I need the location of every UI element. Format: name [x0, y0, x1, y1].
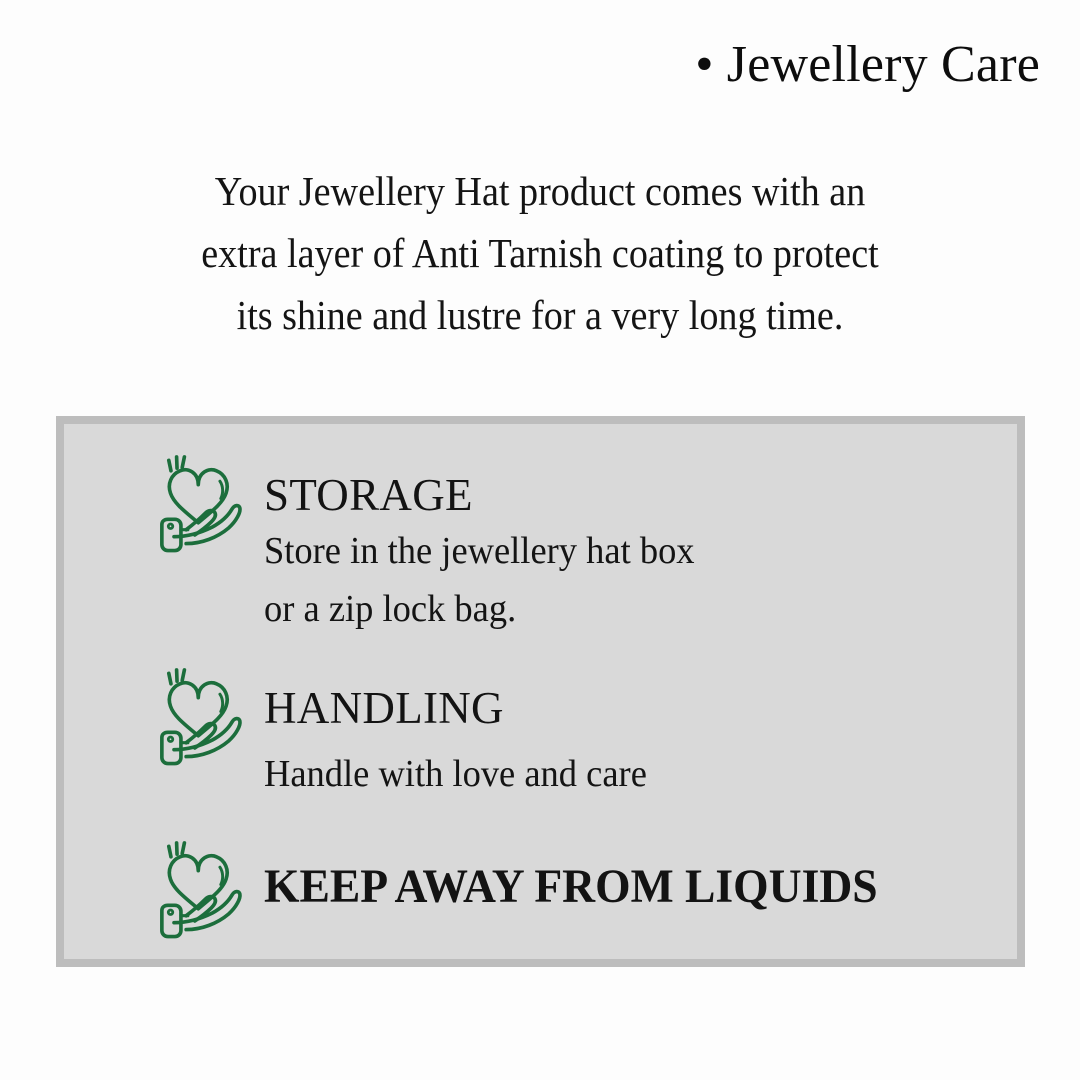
care-body-line-1: Store in the jewellery hat box	[264, 522, 695, 580]
care-heading-storage: STORAGE	[264, 470, 713, 520]
hand-holding-heart-icon	[148, 450, 252, 554]
care-item-handling: HANDLING Handle with love and care	[148, 659, 663, 803]
care-instructions-list: STORAGE Store in the jewellery hat box o…	[64, 424, 1017, 959]
intro-line-1: Your Jewellery Hat product comes with an	[94, 160, 987, 222]
care-item-storage: STORAGE Store in the jewellery hat box o…	[148, 450, 713, 638]
care-body-line-2: or a zip lock bag.	[264, 580, 695, 638]
care-instructions-panel: STORAGE Store in the jewellery hat box o…	[56, 416, 1025, 967]
care-item-text: STORAGE Store in the jewellery hat box o…	[264, 450, 713, 638]
hand-holding-heart-icon	[148, 836, 252, 940]
care-item-text: KEEP AWAY FROM LIQUIDS	[264, 834, 910, 912]
page-title: • Jewellery Care	[695, 34, 1040, 96]
intro-paragraph: Your Jewellery Hat product comes with an…	[94, 160, 987, 346]
intro-line-3: its shine and lustre for a very long tim…	[94, 284, 987, 346]
care-heading-handling: HANDLING	[264, 683, 663, 733]
care-item-keep-away-from-liquids: KEEP AWAY FROM LIQUIDS	[148, 834, 910, 940]
care-heading-keep-away-from-liquids: KEEP AWAY FROM LIQUIDS	[264, 862, 878, 912]
care-item-text: HANDLING Handle with love and care	[264, 659, 663, 803]
hand-holding-heart-icon	[148, 663, 252, 767]
intro-line-2: extra layer of Anti Tarnish coating to p…	[94, 222, 987, 284]
care-body-storage: Store in the jewellery hat box or a zip …	[264, 522, 695, 638]
care-body-line-1: Handle with love and care	[264, 745, 647, 803]
care-body-handling: Handle with love and care	[264, 745, 647, 803]
